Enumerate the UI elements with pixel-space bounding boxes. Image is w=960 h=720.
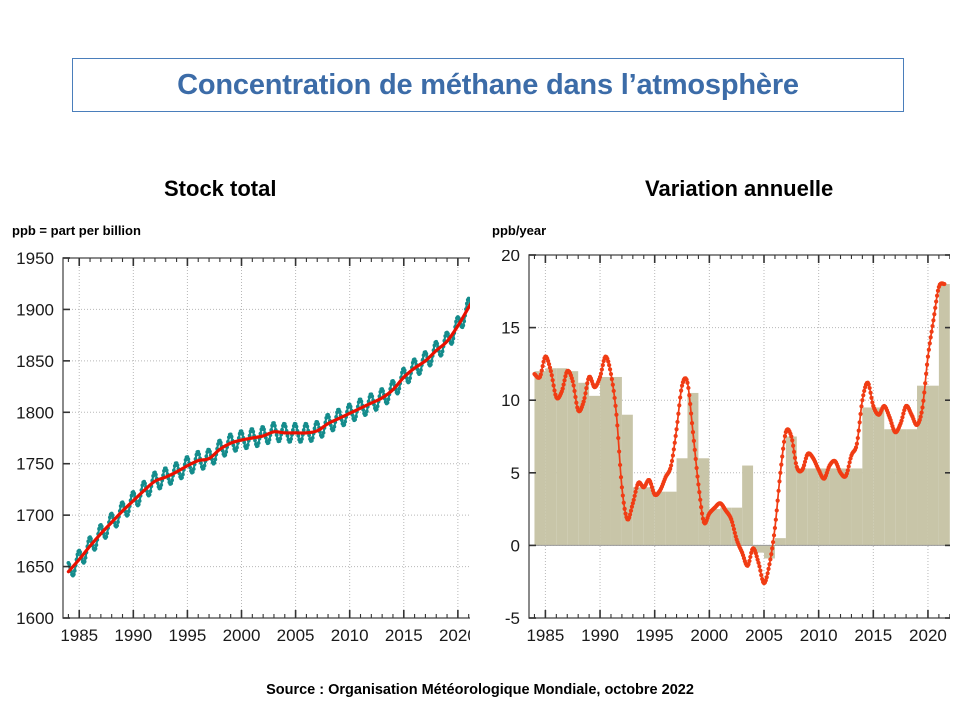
bar <box>644 487 655 545</box>
bar <box>928 386 939 546</box>
x-tick-label: 2000 <box>690 626 728 645</box>
unit-note-left: ppb = part per billion <box>12 223 141 238</box>
chart-stock-total: 1600165017001750180018501900195019851990… <box>0 250 470 665</box>
bar <box>622 415 633 546</box>
y-tick-label: 1650 <box>16 558 54 577</box>
x-tick-label: 2005 <box>745 626 783 645</box>
y-tick-label: 15 <box>501 319 520 338</box>
bar <box>830 468 841 545</box>
bar <box>742 466 753 546</box>
x-tick-label: 1995 <box>636 626 674 645</box>
y-tick-label: 1800 <box>16 403 54 422</box>
panel-heading-stock-total: Stock total <box>164 176 276 202</box>
page-title: Concentration de méthane dans l’atmosphè… <box>177 69 799 102</box>
variation-annuelle-plot: -505101520198519901995200020052010201520… <box>480 250 950 665</box>
x-tick-label: 2000 <box>223 626 261 645</box>
bar <box>775 538 786 545</box>
bar <box>873 407 884 545</box>
x-tick-label: 1990 <box>114 626 152 645</box>
x-tick-label: 1985 <box>60 626 98 645</box>
y-tick-label: -5 <box>505 609 520 628</box>
y-tick-label: 5 <box>511 464 520 483</box>
y-tick-label: 20 <box>501 250 520 265</box>
x-tick-label: 1985 <box>526 626 564 645</box>
source-note: Source : Organisation Météorologique Mon… <box>0 682 960 698</box>
x-tick-label: 2020 <box>439 626 470 645</box>
bar <box>841 468 852 545</box>
x-tick-label: 2010 <box>331 626 369 645</box>
bar <box>851 468 862 545</box>
bar <box>906 429 917 545</box>
y-tick-label: 1600 <box>16 609 54 628</box>
bar <box>677 458 688 545</box>
x-tick-label: 2015 <box>854 626 892 645</box>
x-tick-label: 2005 <box>277 626 315 645</box>
bar <box>808 468 819 545</box>
x-tick-label: 1990 <box>581 626 619 645</box>
y-tick-label: 1700 <box>16 506 54 525</box>
bar <box>655 492 666 546</box>
y-tick-label: 1900 <box>16 300 54 319</box>
y-tick-label: 1850 <box>16 352 54 371</box>
y-tick-label: 10 <box>501 391 520 410</box>
bar <box>862 407 873 545</box>
bar <box>939 284 950 545</box>
x-tick-label: 2010 <box>800 626 838 645</box>
x-tick-label: 1995 <box>168 626 206 645</box>
bar <box>589 396 600 546</box>
panel-heading-variation-annuelle: Variation annuelle <box>645 176 833 202</box>
chart-variation-annuelle: -505101520198519901995200020052010201520… <box>480 250 950 665</box>
y-tick-label: 0 <box>511 536 520 555</box>
unit-note-right: ppb/year <box>492 223 546 238</box>
bar <box>534 371 545 545</box>
stock-total-plot: 1600165017001750180018501900195019851990… <box>0 250 470 665</box>
bar <box>797 468 808 545</box>
bar <box>666 492 677 546</box>
bar <box>884 429 895 545</box>
x-tick-label: 2015 <box>385 626 423 645</box>
bar <box>895 429 906 545</box>
y-tick-label: 1950 <box>16 250 54 268</box>
y-tick-label: 1750 <box>16 455 54 474</box>
slide-title-box: Concentration de méthane dans l’atmosphè… <box>72 58 904 112</box>
bar <box>600 377 611 545</box>
x-tick-label: 2020 <box>909 626 947 645</box>
